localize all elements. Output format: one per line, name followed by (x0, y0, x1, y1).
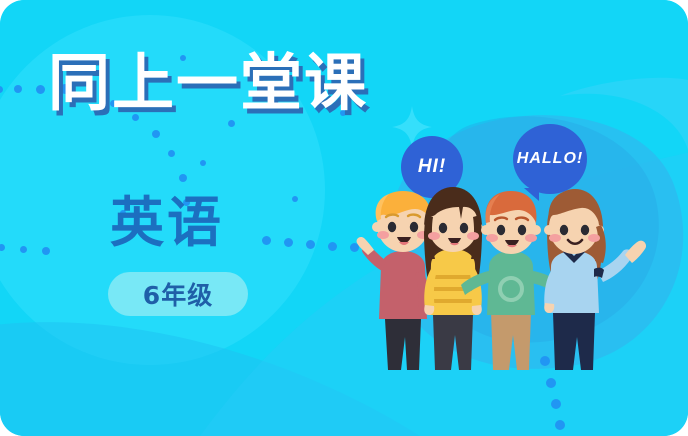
four-children-illustration (355, 185, 688, 370)
child-4 (544, 189, 646, 370)
subject-title: 英语 (110, 196, 224, 250)
grade-badge-label: 6年级 (143, 276, 213, 312)
speech-bubble-hallo: HALLO! (513, 124, 587, 194)
page-title: 同上一堂课 (48, 52, 368, 114)
course-banner-card: 同上一堂课 英语 6年级 HI! HALLO! (0, 0, 688, 436)
grade-badge: 6年级 (108, 272, 248, 316)
speech-bubble-hi-text: HI! (418, 156, 446, 178)
speech-bubble-hallo-text: HALLO! (517, 150, 583, 168)
child-1 (357, 191, 434, 370)
headline-block: 同上一堂课 英语 6年级 (0, 0, 360, 436)
banner-stage: 同上一堂课 英语 6年级 HI! HALLO! (0, 0, 688, 436)
